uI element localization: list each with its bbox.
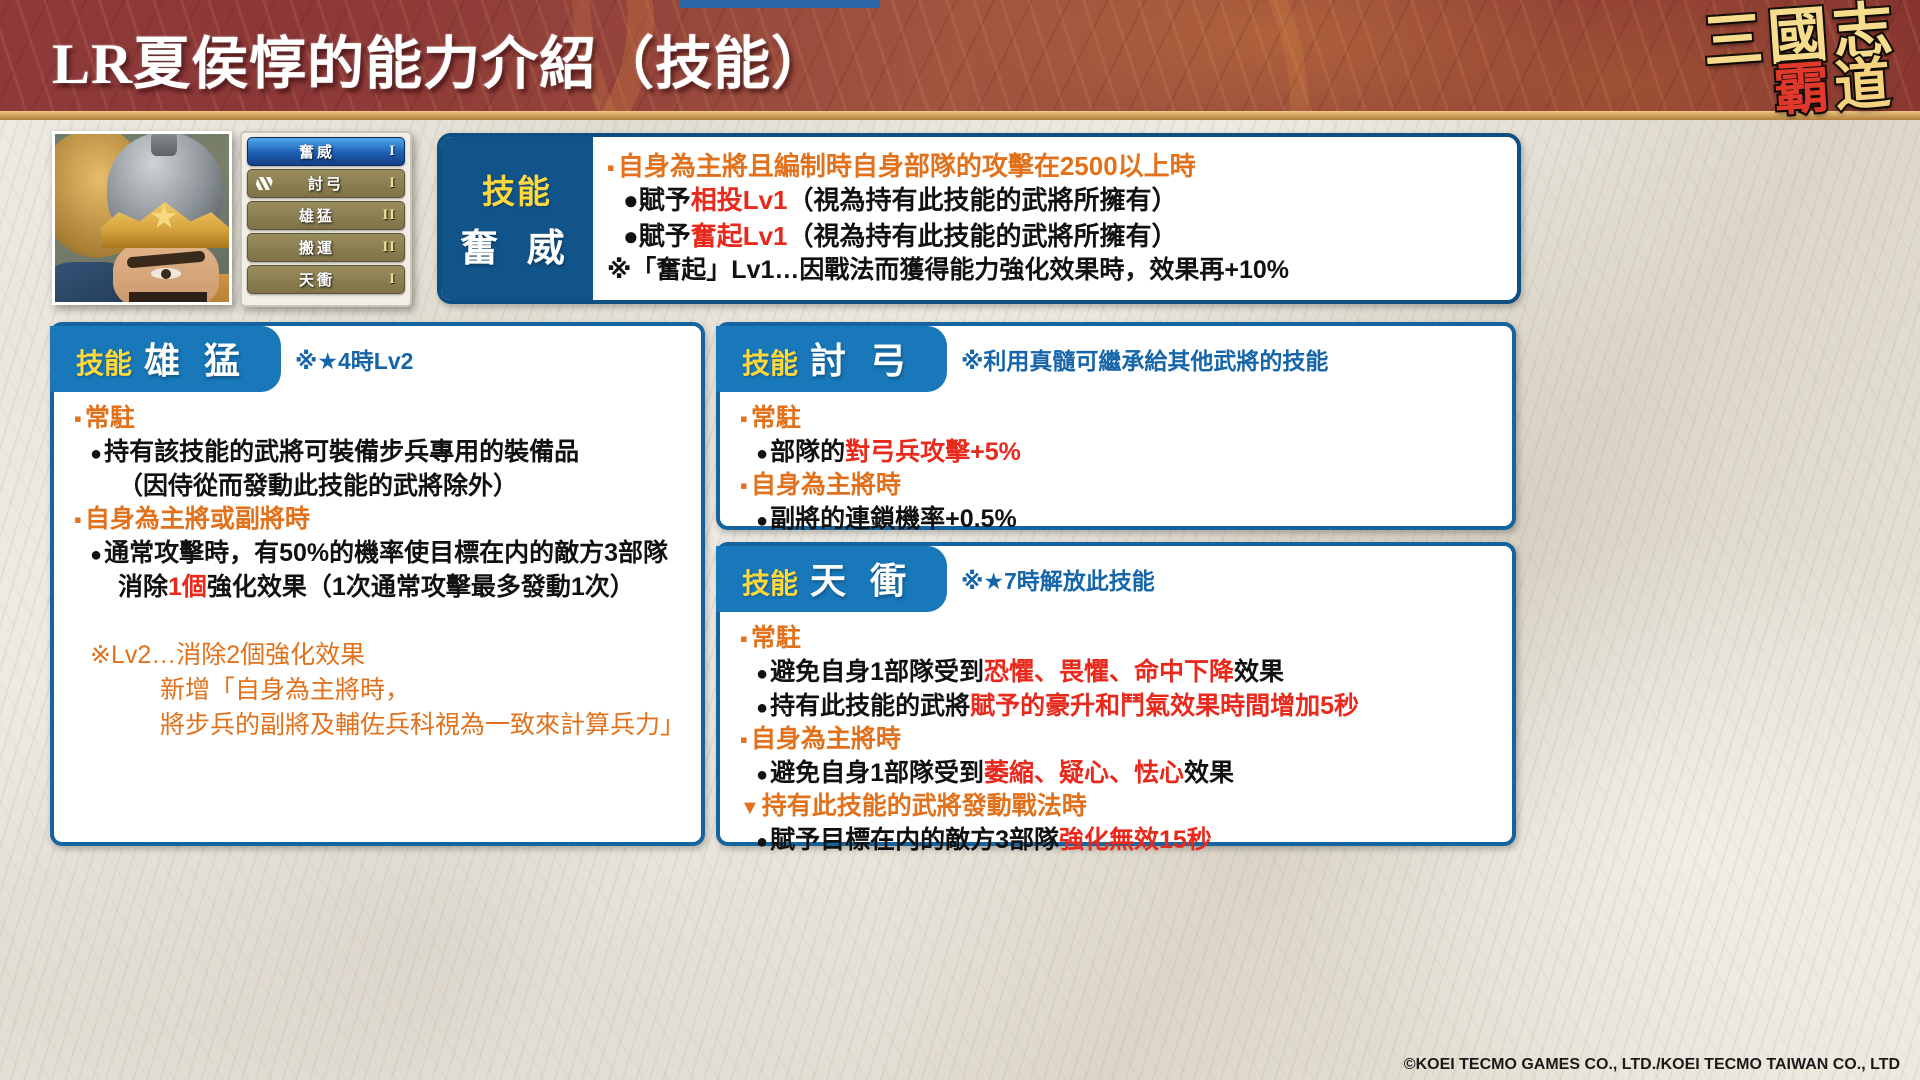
skill-list-item-label: 討弓 — [274, 173, 378, 194]
logo-char: 霸 — [1772, 59, 1832, 121]
character-portrait — [52, 131, 232, 305]
effect-suffix: （視為持有此技能的武將所擁有） — [788, 221, 1178, 251]
skill-section-heading: 自身為主將時 — [740, 469, 1496, 502]
skill-list-item-label: 搬運 — [256, 237, 378, 258]
page-title: LR夏侯惇的能力介紹（技能） — [52, 18, 829, 100]
skill-effect-line: 避免自身1部隊受到萎縮、疑心、怯心效果 — [740, 756, 1496, 790]
skill-level-indicator: II — [378, 207, 396, 224]
skill-card-fenwei: 技能 奮 威 自身為主將且編制時自身部隊的攻擊在2500以上時 ●賦予相投Lv1… — [437, 133, 1521, 304]
effect-highlight: 強化無效15秒 — [1059, 826, 1212, 854]
effect-suffix: （視為持有此技能的武將所擁有） — [788, 185, 1178, 215]
skill-card-fenwei-tag: 技能 奮 威 — [441, 137, 593, 300]
skill-section-heading: 持有此技能的武將發動戰法時 — [740, 790, 1496, 823]
copyright-notice: ©KOEI TECMO GAMES CO., LTD./KOEI TECMO T… — [1404, 1056, 1900, 1074]
skill-effect-line: 消除1個強化效果（1次通常攻擊最多發動1次） — [74, 570, 685, 604]
portrait-robe — [107, 302, 227, 305]
skill-card-fenwei-body: 自身為主將且編制時自身部隊的攻擊在2500以上時 ●賦予相投Lv1（視為持有此技… — [593, 137, 1517, 300]
skill-card-xiongmeng: 技能雄 猛※★4時Lv2常駐持有該技能的武將可裝備步兵專用的裝備品（因侍從而發動… — [50, 322, 705, 846]
skill-effect-line: 通常攻擊時，有50%的機率使目標在内的敵方3部隊 — [74, 536, 685, 570]
skill-effect-line: 賦予目標在内的敵方3部隊強化無效15秒 — [740, 823, 1496, 857]
skill-card-header: 技能討 弓※利用真髓可繼承給其他武將的技能 — [720, 326, 1512, 392]
effect-highlight: 1個 — [168, 573, 207, 601]
effect-prefix: 通常攻擊時，有50%的機率使目標在内的敵方3部隊 — [104, 539, 668, 567]
skill-effect-line: ●賦予奮起Lv1（視為持有此技能的武將所擁有） — [607, 219, 1507, 254]
skill-level-indicator: I — [378, 175, 396, 192]
skill-card-header: 技能天 衝※★7時解放此技能 — [720, 546, 1512, 612]
skill-list-item-3[interactable]: 搬運II — [247, 233, 405, 262]
skill-section-heading: 常駐 — [740, 622, 1496, 655]
skill-footnote: 將步兵的副將及輔佐兵科視為一致來計算兵力」 — [74, 708, 685, 743]
spacer — [74, 604, 685, 638]
effect-highlight: 對弓兵攻擊+5% — [845, 438, 1021, 466]
skill-list-item-1[interactable]: 討弓I — [247, 169, 405, 198]
skill-level-indicator: I — [378, 271, 396, 288]
skill-section-heading: 常駐 — [74, 402, 685, 435]
inherit-icon — [254, 177, 274, 190]
skill-card-body: 常駐避免自身1部隊受到恐懼、畏懼、命中下降效果持有此技能的武將賦予的豪升和鬥氣效… — [720, 612, 1512, 869]
skill-effect-line: ●賦予相投Lv1（視為持有此技能的武將所擁有） — [607, 183, 1507, 218]
portrait-moustache — [129, 292, 207, 305]
skill-level-indicator: I — [378, 143, 396, 160]
skill-effect-line: 避免自身1部隊受到恐懼、畏懼、命中下降效果 — [740, 655, 1496, 689]
skill-card-body: 常駐部隊的對弓兵攻擊+5%自身為主將時副將的連鎖機率+0.5% — [720, 392, 1512, 548]
effect-highlight: 賦予的豪升和鬥氣效果時間增加5秒 — [970, 692, 1359, 720]
skill-tag-name: 討 弓 — [810, 332, 913, 384]
skill-list-item-label: 雄猛 — [256, 205, 378, 226]
skill-head-note: ※利用真髓可繼承給其他武將的技能 — [961, 342, 1328, 376]
skill-section-heading: 自身為主將時 — [740, 723, 1496, 756]
skill-footnote: ※「奮起」Lv1…因戰法而獲得能力強化效果時，效果再+10% — [607, 254, 1507, 287]
effect-prefix: ●賦予 — [623, 221, 691, 251]
skill-effect-line: （因侍從而發動此技能的武將除外） — [74, 469, 685, 503]
skill-effect-line: 副將的連鎖機率+0.5% — [740, 502, 1496, 536]
skill-list-item-0[interactable]: 奮威I — [247, 137, 405, 166]
skill-card-header: 技能雄 猛※★4時Lv2 — [54, 326, 701, 392]
skill-list-panel[interactable]: 奮威I討弓I雄猛II搬運II天衝I — [240, 131, 412, 307]
portrait-pupil — [161, 269, 171, 279]
skill-card-taogong: 技能討 弓※利用真髓可繼承給其他武將的技能常駐部隊的對弓兵攻擊+5%自身為主將時… — [716, 322, 1516, 530]
effect-suffix: 效果 — [1184, 759, 1234, 787]
skill-list-item-4[interactable]: 天衝I — [247, 265, 405, 294]
skill-list-item-2[interactable]: 雄猛II — [247, 201, 405, 230]
skill-tag-label: 技能 — [482, 165, 552, 213]
skill-head-note: ※★7時解放此技能 — [961, 562, 1155, 596]
skill-tag-name: 奮 威 — [460, 217, 574, 272]
header-banner: LR夏侯惇的能力介紹（技能） — [0, 0, 1920, 120]
effect-highlight: 奮起Lv1 — [691, 221, 788, 251]
skill-footnote: ※Lv2…消除2個強化效果 — [74, 638, 685, 673]
skill-level-indicator: II — [378, 239, 396, 256]
skill-condition: 自身為主將且編制時自身部隊的攻擊在2500以上時 — [607, 149, 1507, 183]
effect-highlight: 相投Lv1 — [691, 185, 788, 215]
effect-prefix: 消除 — [118, 573, 168, 601]
effect-highlight: 恐懼、畏懼、命中下降 — [984, 658, 1234, 686]
skill-tag-name: 雄 猛 — [144, 332, 247, 384]
top-tab-marker — [680, 0, 880, 8]
skill-card-body: 常駐持有該技能的武將可裝備步兵專用的裝備品（因侍從而發動此技能的武將除外）自身為… — [54, 392, 701, 755]
skill-effect-line: 持有該技能的武將可裝備步兵專用的裝備品 — [74, 435, 685, 469]
skill-effect-line: 持有此技能的武將賦予的豪升和鬥氣效果時間增加5秒 — [740, 689, 1496, 723]
effect-prefix: 部隊的 — [770, 438, 845, 466]
portrait-helmet-crest — [151, 131, 177, 156]
effect-prefix: 賦予目標在内的敵方3部隊 — [770, 826, 1059, 854]
effect-prefix: ●賦予 — [623, 185, 691, 215]
skill-section-heading: 自身為主將或副將時 — [74, 503, 685, 536]
logo-char: 三 — [1701, 8, 1765, 74]
logo-char: 道 — [1833, 55, 1893, 117]
skill-section-heading: 常駐 — [740, 402, 1496, 435]
skill-tag-label: 技能 — [742, 342, 798, 382]
skill-tag: 技能天 衝 — [716, 546, 947, 612]
skill-tag-name: 天 衝 — [810, 552, 913, 604]
skill-card-tianchong: 技能天 衝※★7時解放此技能常駐避免自身1部隊受到恐懼、畏懼、命中下降效果持有此… — [716, 542, 1516, 846]
effect-suffix: 效果 — [1234, 658, 1284, 686]
skill-tag-label: 技能 — [742, 562, 798, 602]
skill-list-item-label: 天衝 — [256, 269, 378, 290]
skill-footnote: 新增「自身為主將時， — [74, 673, 685, 708]
skill-tag: 技能討 弓 — [716, 326, 947, 392]
effect-prefix: 持有此技能的武將 — [770, 692, 970, 720]
skill-effect-line: 部隊的對弓兵攻擊+5% — [740, 435, 1496, 469]
effect-highlight: 萎縮、疑心、怯心 — [984, 759, 1184, 787]
skill-tag-label: 技能 — [76, 342, 132, 382]
skill-head-note: ※★4時Lv2 — [295, 342, 413, 376]
effect-suffix: 強化效果（1次通常攻擊最多發動1次） — [207, 573, 635, 601]
effect-prefix: 副將的連鎖機率+0.5% — [770, 505, 1017, 533]
skill-list-item-label: 奮威 — [256, 141, 378, 162]
effect-prefix: 避免自身1部隊受到 — [770, 759, 984, 787]
game-logo: 三 國 志 霸 道 — [1681, 0, 1901, 163]
skill-tag: 技能雄 猛 — [50, 326, 281, 392]
effect-prefix: 避免自身1部隊受到 — [770, 658, 984, 686]
